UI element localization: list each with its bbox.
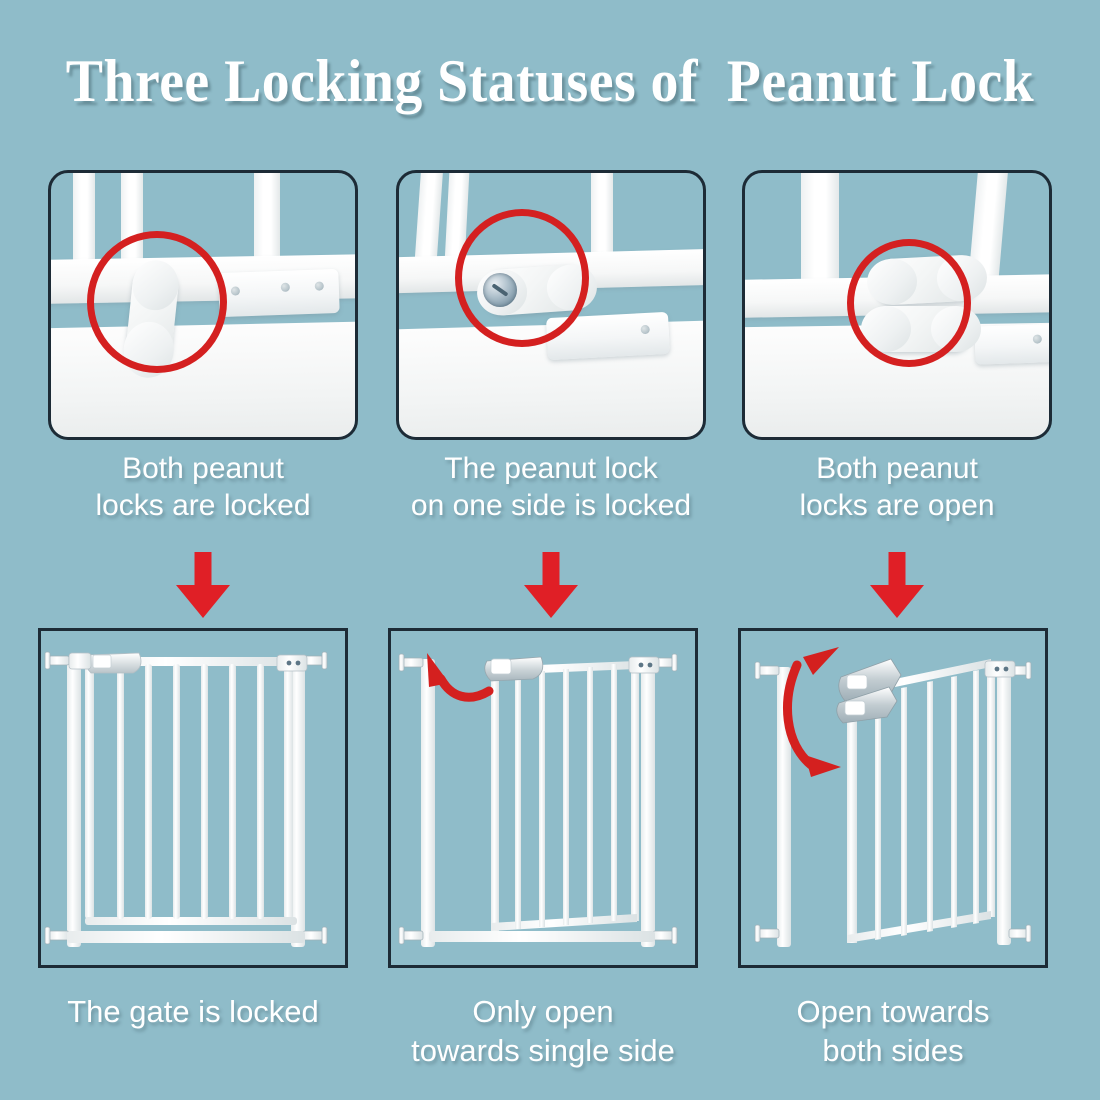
gate-open-both-drawing <box>741 631 1045 965</box>
screw-dot <box>1033 334 1042 343</box>
screw-dot <box>640 325 649 334</box>
photo-content <box>51 173 355 437</box>
gate-catch-block <box>277 655 307 671</box>
gate-post <box>801 173 839 293</box>
latch-plate <box>218 269 339 317</box>
photo-caption-row: Both peanut locks are locked The peanut … <box>0 450 1100 530</box>
latch-plate <box>974 323 1049 364</box>
red-highlight-circle <box>847 239 971 367</box>
gate-catch-block <box>629 657 659 673</box>
caption-gate-single-side: Only open towards single side <box>368 992 718 1070</box>
gate-catch-block <box>985 661 1015 677</box>
photo-row <box>0 170 1100 440</box>
down-arrow-icon-3 <box>870 552 924 618</box>
gate-open-both-sides-illustration <box>738 628 1048 968</box>
gate-row <box>0 628 1100 968</box>
red-highlight-circle <box>87 231 227 373</box>
arrow-head <box>176 585 230 618</box>
arrow-head <box>524 585 578 618</box>
arrow-row <box>0 552 1100 622</box>
screw-dot <box>231 286 240 295</box>
screw-dot <box>281 283 290 292</box>
screw-dot <box>315 281 324 290</box>
caption-both-locked: Both peanut locks are locked <box>28 450 378 524</box>
peanut-lock-both-locked-photo <box>48 170 358 440</box>
page-title: Three Locking Statuses of Peanut Lock <box>39 46 1062 116</box>
red-highlight-circle <box>455 209 589 347</box>
peanut-lock-both-open-photo <box>742 170 1052 440</box>
gate-closed-illustration <box>38 628 348 968</box>
gate-leaf-open <box>485 657 639 931</box>
caption-one-side-locked: The peanut lock on one side is locked <box>376 450 726 524</box>
caption-gate-locked: The gate is locked <box>18 992 368 1031</box>
down-arrow-icon-2 <box>524 552 578 618</box>
gate-open-single-side-illustration <box>388 628 698 968</box>
swing-both-directions-arrow <box>788 647 841 777</box>
peanut-lock-one-side-locked-photo <box>396 170 706 440</box>
arrow-head <box>870 585 924 618</box>
gate-closed-drawing <box>41 631 345 965</box>
gate-open-single-drawing <box>391 631 695 965</box>
caption-both-open: Both peanut locks are open <box>722 450 1072 524</box>
swing-direction-arrow <box>427 653 489 697</box>
photo-content <box>745 173 1049 437</box>
gate-leaf-open-perspective <box>837 659 995 943</box>
gate-caption-row: The gate is locked Only open towards sin… <box>0 992 1100 1082</box>
caption-gate-both-sides: Open towards both sides <box>718 992 1068 1070</box>
photo-content <box>399 173 703 437</box>
down-arrow-icon-1 <box>176 552 230 618</box>
